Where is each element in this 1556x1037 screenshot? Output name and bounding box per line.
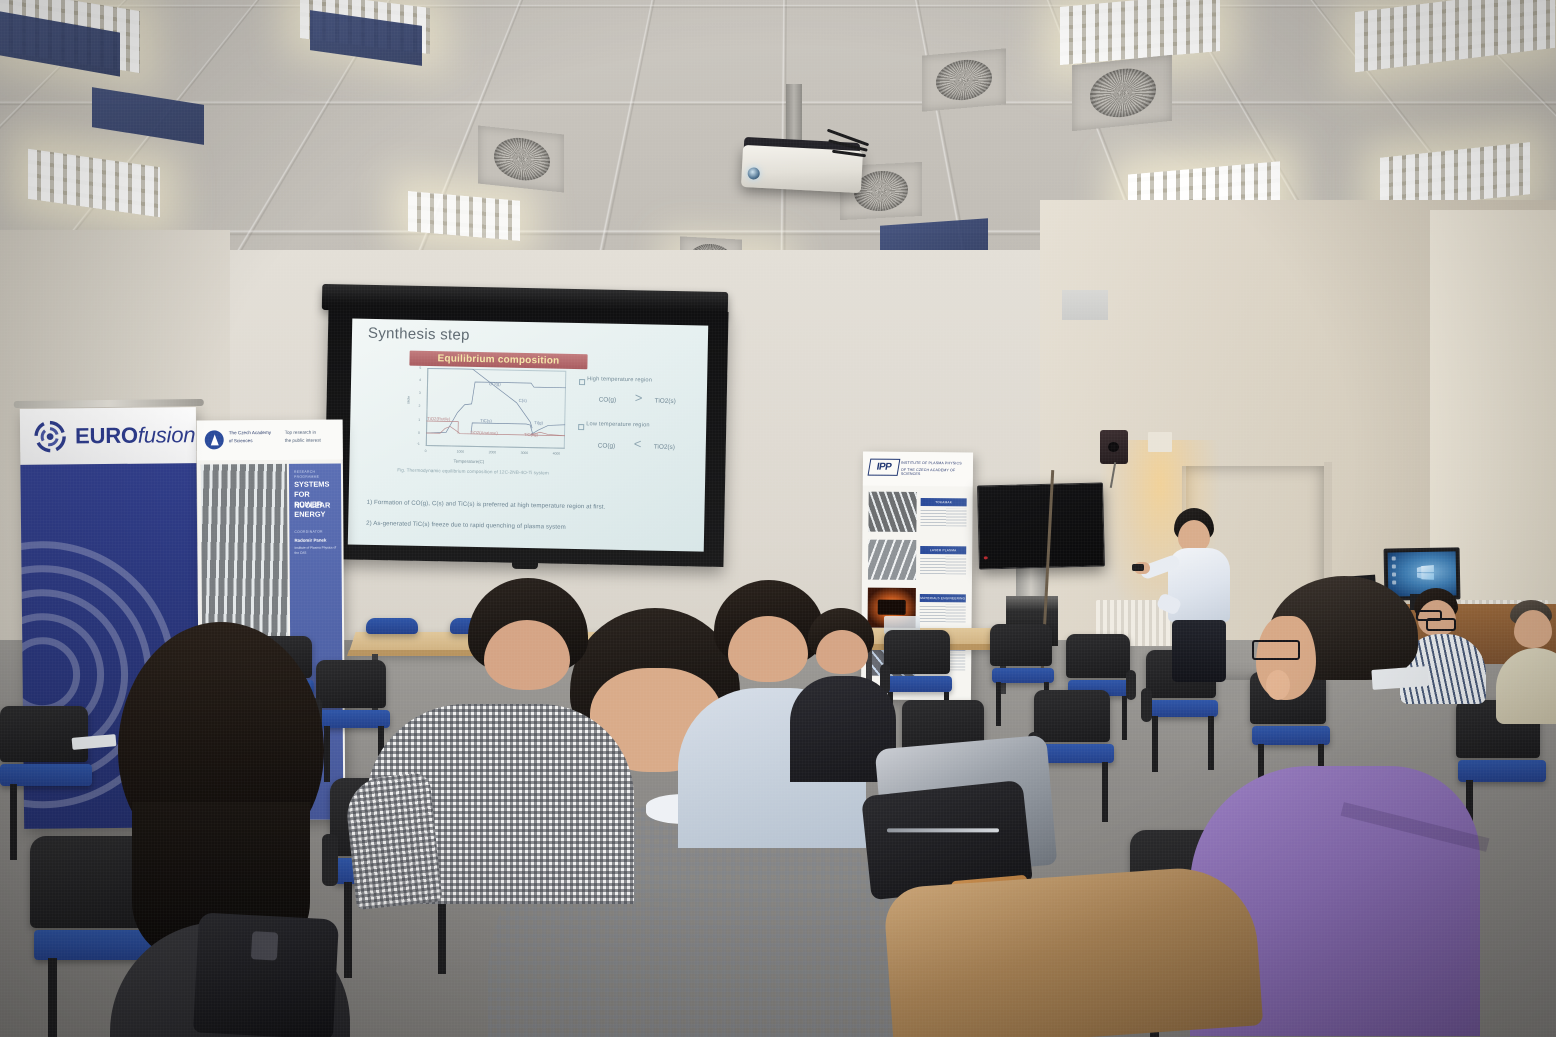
chart-ytick: 1: [418, 418, 420, 422]
annotation-operator-high: >: [635, 391, 643, 404]
coat-on-chair: [883, 863, 1263, 1037]
cas-headline-1: SYSTEMS: [294, 480, 329, 489]
ipp-acronym: IPP: [876, 462, 892, 473]
projector-lens-icon: [747, 167, 760, 180]
checkbox-icon: [578, 424, 584, 430]
chart-label-ticlg: TiC(l/g): [524, 432, 538, 437]
wall-tv-display[interactable]: [977, 482, 1105, 569]
wall-vent: [1062, 290, 1108, 320]
chart-xtick: 0: [425, 449, 427, 453]
cas-coordinator-org: Institute of Plasma Physics of the CAS: [294, 546, 338, 556]
annotation-left-low: CO(g): [598, 442, 616, 449]
projection-screen: Synthesis step Equilibrium composition: [323, 304, 728, 567]
ipp-photo-tokamak: [868, 492, 916, 532]
glasses-icon: [1252, 640, 1300, 660]
wall-speaker: [1100, 430, 1128, 464]
chart-label-co-g: CO(g): [489, 381, 501, 386]
slide-note-1: 1) Formation of CO(g), C(s) and TiC(s) i…: [367, 499, 606, 511]
chart-series-paths: [426, 368, 567, 449]
projection-screen-weight-bar: [512, 560, 538, 570]
chart-xlabel: Temperature(C): [453, 459, 484, 465]
chart-label-anatase: TiO2(Anatase): [470, 430, 498, 436]
cas-org-line-1: The Czech Academy: [229, 430, 271, 437]
backpack-zipper: [887, 828, 999, 832]
glasses-icon: [1426, 618, 1456, 631]
chart-xtick: 3000: [521, 451, 529, 455]
audience-arm: [343, 772, 442, 910]
presentation-slide: Synthesis step Equilibrium composition: [348, 318, 708, 551]
chart-xtick: 2000: [489, 450, 497, 454]
chart-xtick: 4000: [553, 452, 561, 456]
air-diffuser-plate: [1072, 55, 1172, 132]
chart-ytick: -1: [417, 442, 420, 446]
air-diffuser: [494, 135, 550, 183]
cas-section-label: RESEARCH PROGRAMME: [294, 470, 341, 480]
ipp-section-label: TOKAMAK: [935, 500, 952, 504]
tv-power-led-icon: [984, 556, 988, 559]
chart-label-c-s: C(s): [519, 398, 527, 403]
ipp-section-text: [920, 508, 966, 526]
chart-ytick: 5: [419, 366, 421, 370]
cas-org-line-2: of Sciences: [229, 438, 253, 445]
annotation-label-low: Low temperature region: [586, 421, 650, 428]
annotation-operator-low: <: [634, 437, 642, 450]
chart-ytick: 2: [419, 404, 421, 408]
ipp-section-row: LASER PLASMA: [868, 540, 966, 583]
presentation-clicker[interactable]: [1132, 564, 1144, 571]
annotation-label-high: High temperature region: [587, 376, 652, 383]
chart-label-tic-s: TiC(s): [480, 418, 492, 423]
presenter-trousers: [1172, 620, 1226, 682]
banner-ipp-header: IPP INSTITUTE OF PLASMA PHYSICS OF THE C…: [863, 452, 973, 487]
air-diffuser-plate: [922, 48, 1006, 111]
ipp-title-line-1: INSTITUTE OF PLASMA PHYSICS: [901, 461, 962, 466]
ipp-photo-laser: [868, 540, 916, 580]
annotation-right-high: TiO2(s): [655, 398, 676, 405]
ipp-section-label: LASER PLASMA: [930, 548, 957, 552]
eurofusion-brand-bold: EURO: [75, 423, 138, 449]
slide-note-2: 2) As-generated TiC(s) freeze due to rap…: [366, 520, 566, 531]
chart-label-rutile: TiO2(Rutile): [427, 416, 450, 421]
cas-tagline-1: Top research in: [285, 430, 316, 437]
backpack-black: [193, 912, 339, 1037]
conference-room-photo: Synthesis step Equilibrium composition: [0, 0, 1556, 1037]
ipp-logo-icon: IPP: [868, 459, 901, 476]
chart-ylabel: Mole: [407, 396, 411, 404]
banner-cas-header: The Czech Academy of Sciences Top resear…: [197, 419, 343, 460]
ipp-section-label: MATERIALS ENGINEERING: [920, 596, 965, 600]
projector-mount: [786, 84, 802, 146]
air-diffuser: [936, 58, 992, 103]
backpack-buckle: [251, 931, 278, 960]
chart-label-ti-g: Ti(g): [534, 420, 543, 425]
czech-academy-logo-icon: [205, 430, 224, 449]
air-diffuser-plate: [478, 125, 564, 192]
figure-caption: Fig. Thermodynamic equilibrium compositi…: [397, 467, 549, 475]
equilibrium-composition-chart: Mole 5 4 3 2 1 0 -1 0 1000 2000 3000 400…: [407, 366, 569, 465]
ipp-section-text: [920, 604, 966, 622]
air-diffuser: [854, 170, 908, 213]
checkbox-icon: [579, 379, 585, 385]
banner-eurofusion-header: EUROfusion: [20, 407, 197, 465]
ipp-title-line-2: OF THE CZECH ACADEMY OF SCIENCES: [901, 468, 973, 477]
cas-coordinator-label: COORDINATOR: [294, 530, 322, 535]
cas-coordinator-name: Radomir Panek: [294, 538, 326, 545]
air-diffuser: [1090, 65, 1156, 120]
ipp-section-text: [920, 556, 966, 574]
ipp-section-badge: TOKAMAK: [921, 498, 967, 506]
chart-xtick: 1000: [457, 450, 465, 454]
paper-notes: [1371, 666, 1428, 690]
wall-sconce-lamp: [1148, 432, 1172, 452]
windows-logo-icon: [1421, 565, 1434, 580]
chart-ytick: 4: [419, 378, 421, 382]
slide-section-banner-label: Equilibrium composition: [437, 353, 559, 366]
ear: [1266, 670, 1290, 700]
ipp-section-badge: MATERIALS ENGINEERING: [920, 594, 966, 602]
cas-tagline-2: the public interest: [285, 438, 321, 445]
chart-ytick: 0: [418, 431, 420, 435]
annotation-right-low: TiO2(s): [654, 444, 675, 451]
slide-title: Synthesis step: [368, 325, 470, 344]
eurofusion-brand-italic: fusion: [138, 422, 196, 448]
chart-ytick: 3: [419, 391, 421, 395]
ipp-section-badge: LASER PLASMA: [920, 546, 966, 554]
ipp-section-row: TOKAMAK: [868, 492, 966, 535]
cas-headline-4: ENERGY: [294, 510, 325, 521]
eurofusion-ring-icon: [32, 418, 68, 454]
annotation-left-high: CO(g): [599, 396, 617, 403]
